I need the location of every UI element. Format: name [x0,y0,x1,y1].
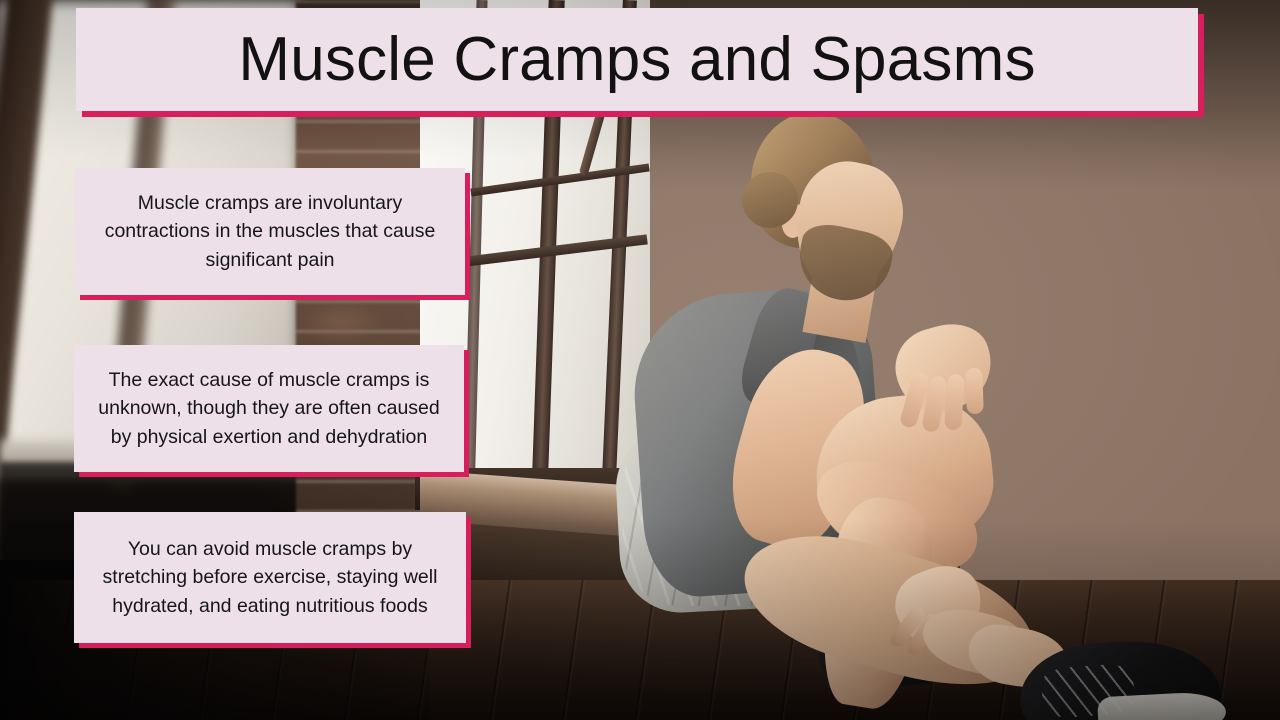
callout-box-2: The exact cause of muscle cramps is unkn… [74,345,464,472]
callout-text-3: You can avoid muscle cramps by stretchin… [88,535,452,621]
title-card: Muscle Cramps and Spasms [76,8,1198,111]
callout-text-2: The exact cause of muscle cramps is unkn… [88,366,450,452]
hair-bun [742,172,798,228]
callout-box-1: Muscle cramps are involuntary contractio… [75,168,465,295]
callout-box-3: You can avoid muscle cramps by stretchin… [74,512,466,643]
seated-man [600,100,1020,720]
callout-text-1: Muscle cramps are involuntary contractio… [89,189,451,275]
slide: Muscle Cramps and Spasms Muscle cramps a… [0,0,1280,720]
sneaker-laces [1040,663,1135,719]
page-title: Muscle Cramps and Spasms [238,29,1035,91]
finger [965,368,984,415]
